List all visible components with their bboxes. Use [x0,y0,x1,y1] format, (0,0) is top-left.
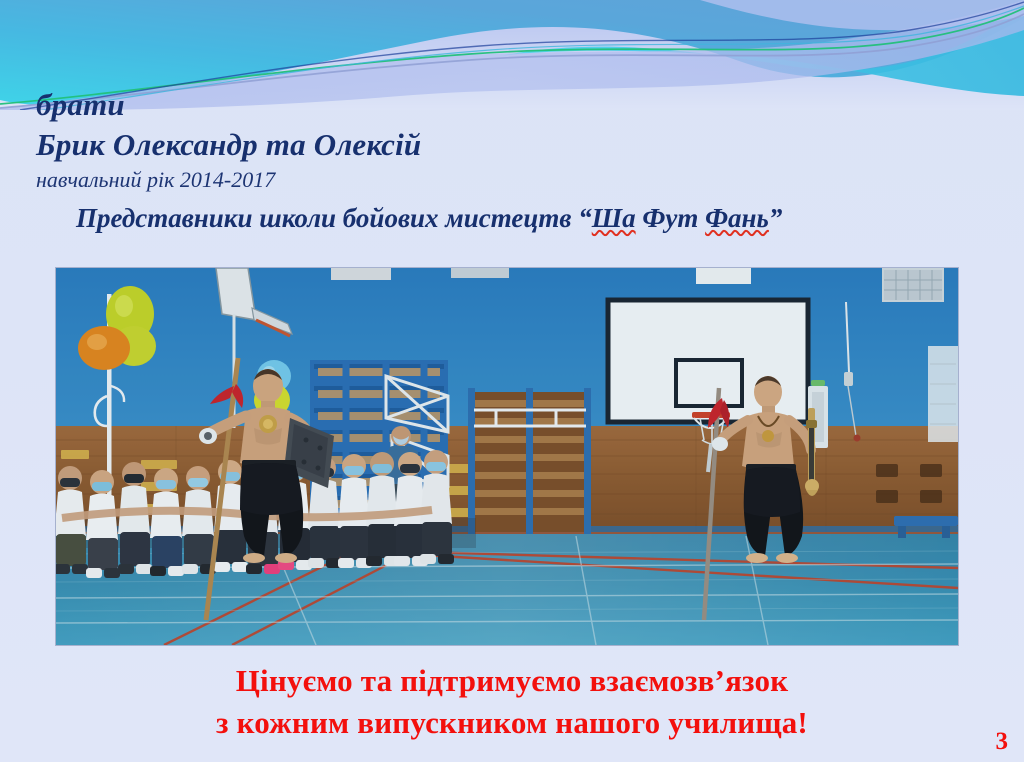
title-block: брати Брик Олександр та Олексій навчальн… [0,86,1024,235]
title-line-names: Брик Олександр та Олексій [0,124,1024,166]
quote-open: “ [578,203,592,233]
school-word-sha: Ша [592,203,636,233]
footer-line-2: з кожним випускником нашого училища! [0,702,1024,744]
school-prefix-text: Представники школи бойових мистецтв [76,203,578,233]
footer-message: Цінуємо та підтримуємо взаємозв’язок з к… [0,660,1024,744]
quote-close: ” [769,203,783,233]
page-number: 3 [996,728,1009,756]
school-word-fan: Фань [705,203,769,233]
title-line-academic-year: навчальний рік 2014-2017 [0,165,1024,194]
title-line-school: Представники школи бойових мистецтв “Ша … [0,194,1024,234]
title-line-brati: брати [0,86,1024,124]
presentation-slide: брати Брик Олександр та Олексій навчальн… [0,0,1024,762]
gym-demonstration-photo [56,268,958,645]
school-word-fut: Фут [636,203,705,233]
footer-line-1: Цінуємо та підтримуємо взаємозв’язок [0,660,1024,702]
